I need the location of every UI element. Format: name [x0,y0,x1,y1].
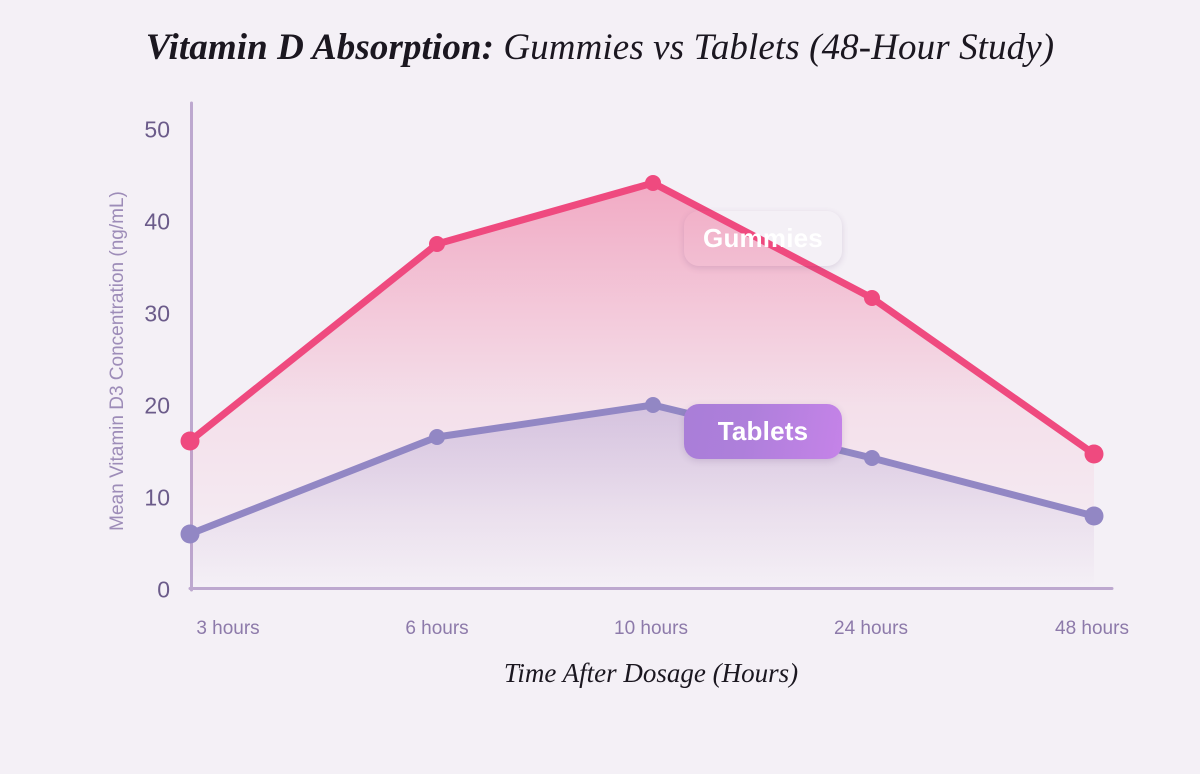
legend-badge-gummies[interactable]: Gummies [684,211,842,266]
chart-container: Vitamin D Absorption: Gummies vs Tablets… [0,0,1200,774]
x-tick-label: 6 hours [347,618,527,640]
x-tick-label: 3 hours [138,618,318,640]
legend-badge-tablets[interactable]: Tablets [684,404,842,459]
x-axis-title: Time After Dosage (Hours) [190,658,1112,689]
legend-label-tablets: Tablets [718,416,809,447]
x-tick-label: 48 hours [1002,618,1182,640]
legend-label-gummies: Gummies [703,223,823,254]
x-tick-label: 10 hours [561,618,741,640]
x-tick-label: 24 hours [781,618,961,640]
